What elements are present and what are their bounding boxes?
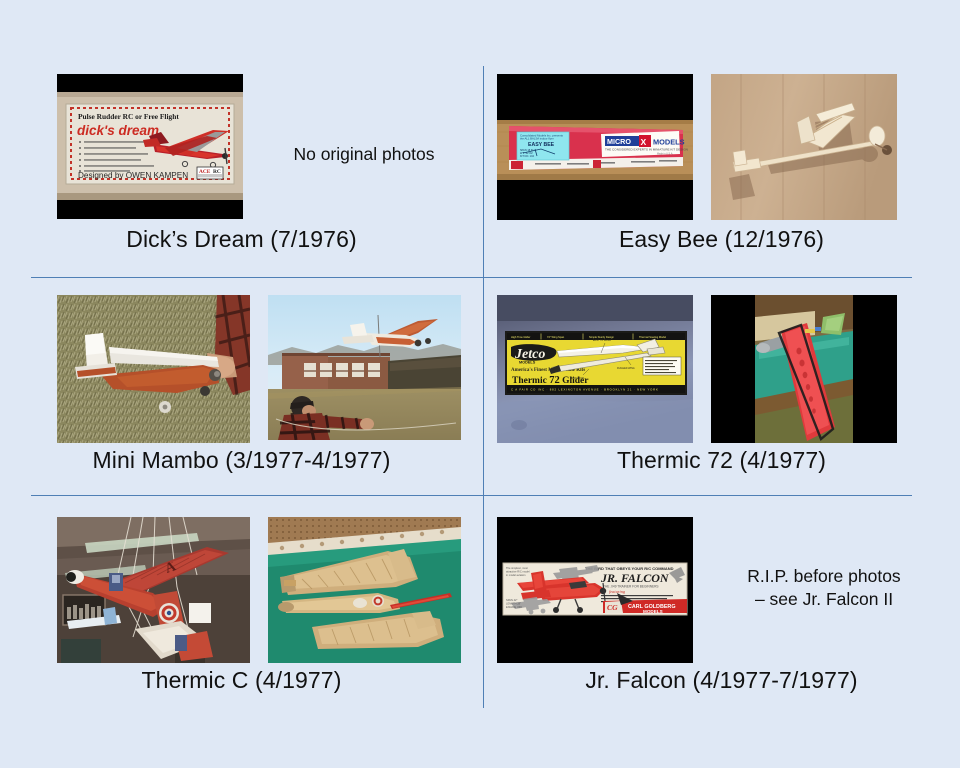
svg-text:MODELS: MODELS [643, 609, 663, 614]
svg-text:THE CONSIDERED EXPERTS IN MINI: THE CONSIDERED EXPERTS IN MINIATURE KIT … [605, 148, 688, 152]
svg-text:MODELS: MODELS [653, 138, 685, 147]
mini-mambo-launch [268, 295, 461, 440]
entry-thermic-c: A [0, 495, 483, 768]
dicks-dream-kit-box: Pulse Rudder RC or Free Flight dick's dr… [57, 74, 243, 219]
entry-thermic-72: High Time Glider 72" Wing Span Simple St… [483, 277, 960, 495]
svg-text:72" Wing Span: 72" Wing Span [547, 335, 565, 339]
svg-text:Thermal Soaring Model: Thermal Soaring Model [639, 335, 666, 339]
jr-falcon-caption: Jr. Falcon (4/1977-7/1977) [483, 667, 960, 694]
mini-mambo-caption-text: Mini Mambo (3/1977-4/1977) [93, 447, 391, 473]
svg-text:Made in U.S.A.: Made in U.S.A. [657, 153, 673, 156]
entry-easy-bee: Consolidated Models Inc. presents the AL… [483, 0, 960, 277]
jr-falcon-note-line-1: R.I.P. before photos [705, 565, 943, 588]
thermic-72-caption: Thermic 72 (4/1977) [483, 447, 960, 474]
svg-text:the ALL BALSA indoor flyer: the ALL BALSA indoor flyer [520, 137, 554, 141]
svg-text:CG: CG [607, 603, 618, 612]
svg-text:dick's dream: dick's dream [77, 123, 159, 138]
easy-bee-kit-box: Consolidated Models Inc. presents the AL… [497, 74, 693, 220]
svg-text:X: X [641, 137, 647, 147]
svg-text:attractive R/C model: attractive R/C model [506, 570, 530, 574]
slide-canvas: Pulse Rudder RC or Free Flight dick's dr… [0, 0, 960, 768]
svg-text:Designed by OWEN KAMPEN: Designed by OWEN KAMPEN [78, 171, 188, 180]
entry-mini-mambo: Mini Mambo (3/1977-4/1977) [0, 277, 483, 495]
easy-bee-caption-text: Easy Bee (12/1976) [619, 226, 824, 252]
svg-text:ENGINE .049: ENGINE .049 [506, 605, 522, 609]
svg-text:KIT NO. 104: KIT NO. 104 [520, 155, 534, 158]
svg-text:C A FAIR CO INC · 882 LE: C A FAIR CO INC · 882 LEXINGTON AVENUE ·… [511, 388, 659, 392]
easy-bee-caption: Easy Bee (12/1976) [483, 226, 960, 253]
dicks-dream-note: No original photos [264, 143, 464, 166]
thermic-c-hanging-models: A [57, 517, 250, 663]
svg-text:EASY BEE: EASY BEE [528, 142, 555, 148]
svg-text:TOW HOOK: TOW HOOK [571, 377, 585, 380]
jr-falcon-caption-text: Jr. Falcon (4/1977-7/1977) [585, 667, 857, 693]
svg-text:High Time Glider: High Time Glider [511, 335, 530, 339]
thermic-c-bare-balsa [268, 517, 461, 663]
dicks-dream-caption: Dick’s Dream (7/1976) [0, 226, 483, 253]
svg-text:RUGGED WING: RUGGED WING [617, 367, 635, 370]
jr-falcon-note-line-2: – see Jr. Falcon II [705, 588, 943, 611]
svg-text:EASY TO BUILD: EASY TO BUILD [593, 339, 611, 342]
thermic-c-caption: Thermic C (4/1977) [0, 667, 483, 694]
dicks-dream-caption-text: Dick’s Dream (7/1976) [126, 226, 356, 252]
svg-text:LENGTH 28": LENGTH 28" [506, 602, 521, 606]
thermic-72-kit-box: High Time Glider 72" Wing Span Simple St… [497, 295, 693, 443]
thermic-c-caption-text: Thermic C (4/1977) [142, 667, 342, 693]
jr-falcon-note-block: R.I.P. before photos – see Jr. Falcon II [705, 565, 943, 611]
svg-text:MICRO: MICRO [607, 137, 631, 146]
svg-text:The simplest, most: The simplest, most [506, 566, 528, 570]
svg-text:THE .049 TRAINER FOR BEGINNERS: THE .049 TRAINER FOR BEGINNERS [603, 585, 659, 589]
thermic-72-built-glider [711, 295, 897, 443]
svg-text:in model aviation: in model aviation [506, 573, 526, 577]
svg-text:JR. FALCON: JR. FALCON [600, 571, 670, 585]
svg-text:SPAN 42": SPAN 42" [506, 598, 517, 602]
dicks-dream-note-line: No original photos [293, 144, 434, 164]
svg-text:Pulse Rudder RC or Free Flight: Pulse Rudder RC or Free Flight [78, 112, 179, 121]
easy-bee-built-model [711, 74, 897, 220]
svg-text:MODELS: MODELS [519, 361, 536, 365]
mini-mambo-held-model [57, 295, 250, 443]
mini-mambo-caption: Mini Mambo (3/1977-4/1977) [0, 447, 483, 474]
entry-jr-falcon: THE BIRD THAT OBEYS YOUR R/C COMMAND JR.… [483, 495, 960, 768]
entry-dicks-dream: Pulse Rudder RC or Free Flight dick's dr… [0, 0, 483, 277]
jr-falcon-kit-box: THE BIRD THAT OBEYS YOUR R/C COMMAND JR.… [497, 517, 693, 663]
thermic-72-caption-text: Thermic 72 (4/1977) [617, 447, 826, 473]
